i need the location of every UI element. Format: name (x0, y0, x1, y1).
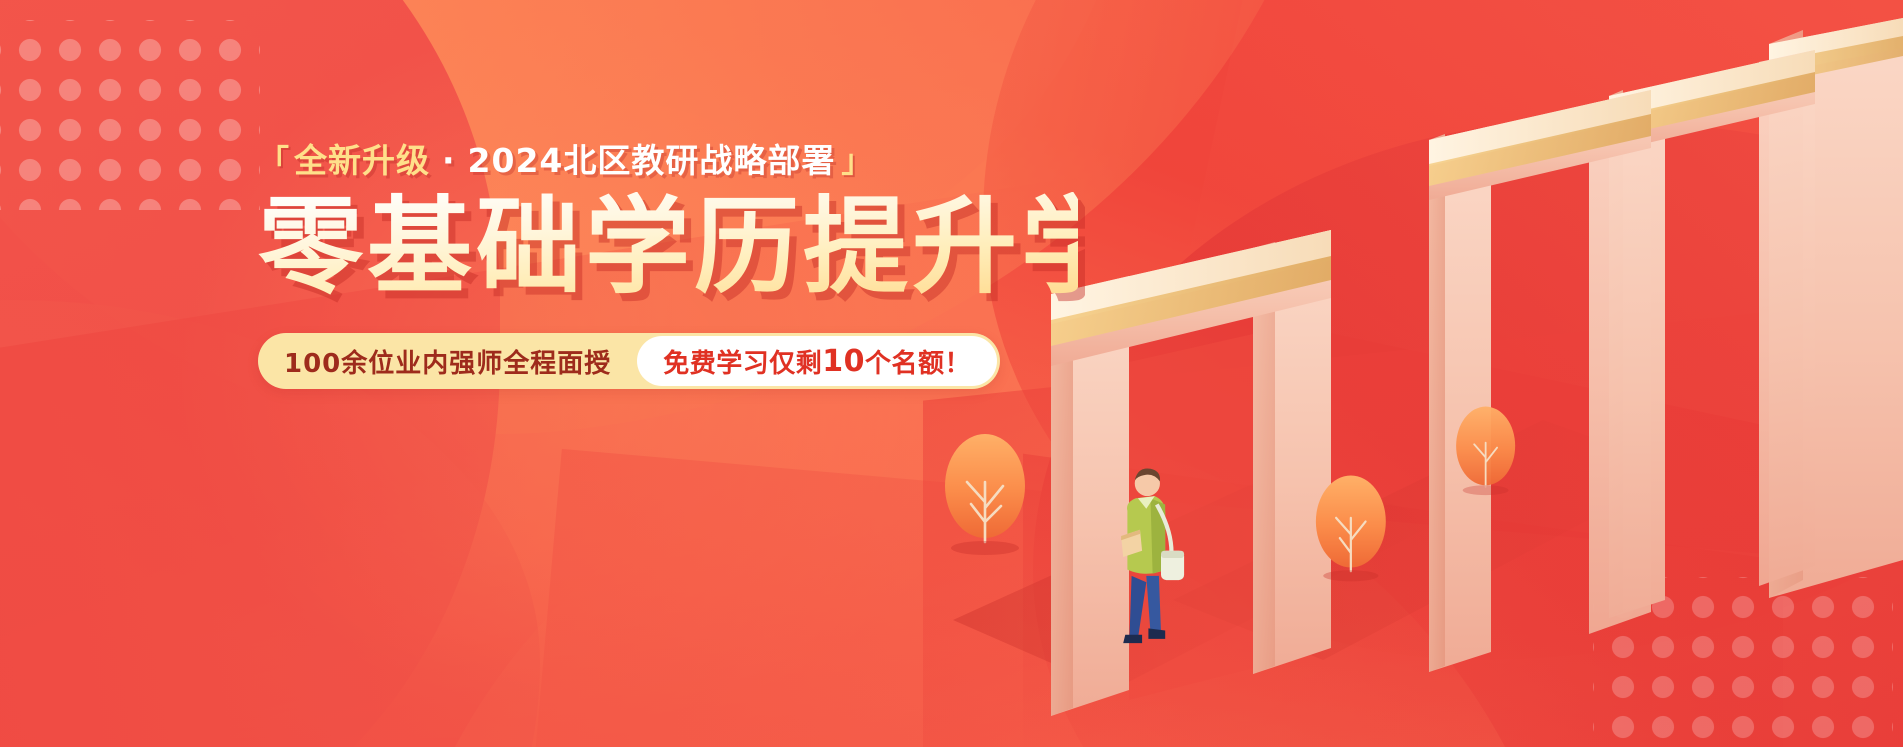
bracket-open-icon: 「 (258, 147, 290, 178)
subtitle-highlight: 全新升级 (294, 144, 430, 177)
promo-banner: 「 全新升级 · 2024北区教研战略部署 」 零基础学历提升学霸班 100余位… (0, 0, 1903, 747)
banner-copy: 「 全新升级 · 2024北区教研战略部署 」 零基础学历提升学霸班 100余位… (258, 144, 1078, 389)
pill-left-label: 100余位业内强师全程面授 (284, 333, 637, 389)
seats-suffix: 个名额！ (865, 343, 971, 380)
banner-headline: 零基础学历提升学霸班 (258, 192, 1078, 303)
banner-subtitle: 「 全新升级 · 2024北区教研战略部署 」 (258, 144, 1078, 178)
subtitle-separator-icon: · (430, 144, 468, 177)
dot-grid-top-left-icon (0, 20, 260, 210)
subtitle-rest: 2024北区教研战略部署 (468, 144, 836, 177)
seats-number: 10 (822, 344, 865, 379)
seats-remaining-badge[interactable]: 免费学习仅剩10个名额！ (637, 336, 997, 386)
banner-feature-pill: 100余位业内强师全程面授 免费学习仅剩10个名额！ (258, 333, 1000, 389)
seats-prefix: 免费学习仅剩 (663, 343, 822, 380)
bracket-close-icon: 」 (841, 147, 873, 178)
